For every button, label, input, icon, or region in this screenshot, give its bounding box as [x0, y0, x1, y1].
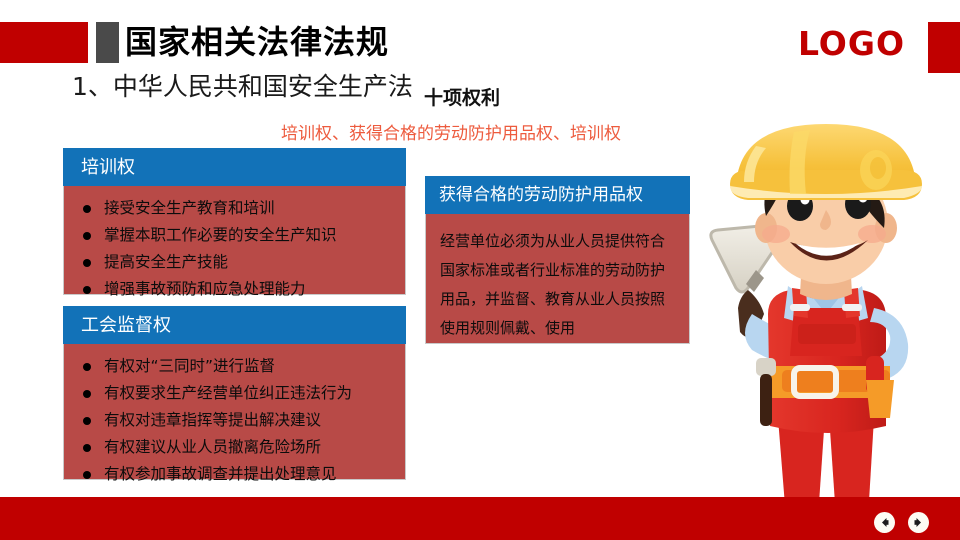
logo-text: LOGO [798, 24, 905, 64]
panel-ppe-body: 经营单位必须为从业人员提供符合国家标准或者行业标准的劳动防护用品，并监督、教育从… [425, 214, 690, 344]
page-title: 国家相关法律法规 [125, 20, 389, 64]
arrow-left-icon [878, 516, 891, 529]
header-red-accent-block [0, 22, 88, 63]
list-item: 有权要求生产经营单位纠正违法行为 [76, 380, 393, 407]
arrow-right-icon [912, 516, 925, 529]
panel-training-title: 培训权 [63, 148, 406, 186]
panel-union-supervision-right: 工会监督权 有权对“三同时”进行监督 有权要求生产经营单位纠正违法行为 有权对违… [63, 306, 406, 480]
previous-slide-button[interactable] [874, 512, 895, 533]
list-item: 增强事故预防和应急处理能力 [76, 276, 393, 303]
list-item: 有权对“三同时”进行监督 [76, 353, 393, 380]
ten-rights-heading: 十项权利 [424, 85, 500, 111]
list-item: 掌握本职工作必要的安全生产知识 [76, 222, 393, 249]
slide-canvas: 国家相关法律法规 1、中华人民共和国安全生产法 LOGO 十项权利 培训权、获得… [0, 0, 960, 540]
list-item: 有权参加事故调查并提出处理意见 [76, 461, 393, 488]
rights-summary-text: 培训权、获得合格的劳动防护用品权、培训权 [281, 122, 621, 146]
panel-training-right: 培训权 接受安全生产教育和培训 掌握本职工作必要的安全生产知识 提高安全生产技能… [63, 148, 406, 295]
panel-union-body: 有权对“三同时”进行监督 有权要求生产经营单位纠正违法行为 有权对违章指挥等提出… [63, 344, 406, 480]
panel-union-title: 工会监督权 [63, 306, 406, 344]
logo-red-block [928, 22, 960, 73]
training-bullet-list: 接受安全生产教育和培训 掌握本职工作必要的安全生产知识 提高安全生产技能 增强事… [76, 195, 393, 303]
next-slide-button[interactable] [908, 512, 929, 533]
list-item: 提高安全生产技能 [76, 249, 393, 276]
construction-worker-illustration [690, 118, 960, 518]
panel-training-body: 接受安全生产教育和培训 掌握本职工作必要的安全生产知识 提高安全生产技能 增强事… [63, 186, 406, 295]
list-item: 接受安全生产教育和培训 [76, 195, 393, 222]
panel-ppe-title: 获得合格的劳动防护用品权 [425, 176, 690, 214]
list-item: 有权建议从业人员撤离危险场所 [76, 434, 393, 461]
page-subtitle: 1、中华人民共和国安全生产法 [72, 70, 413, 104]
hard-hat-icon [730, 124, 922, 200]
panel-ppe-right: 获得合格的劳动防护用品权 经营单位必须为从业人员提供符合国家标准或者行业标准的劳… [425, 176, 690, 344]
union-bullet-list: 有权对“三同时”进行监督 有权要求生产经营单位纠正违法行为 有权对违章指挥等提出… [76, 353, 393, 488]
list-item: 有权对违章指挥等提出解决建议 [76, 407, 393, 434]
panel-ppe-paragraph: 经营单位必须为从业人员提供符合国家标准或者行业标准的劳动防护用品，并监督、教育从… [440, 227, 675, 343]
footer-bar [0, 497, 960, 540]
header-gray-accent-block [96, 22, 119, 63]
